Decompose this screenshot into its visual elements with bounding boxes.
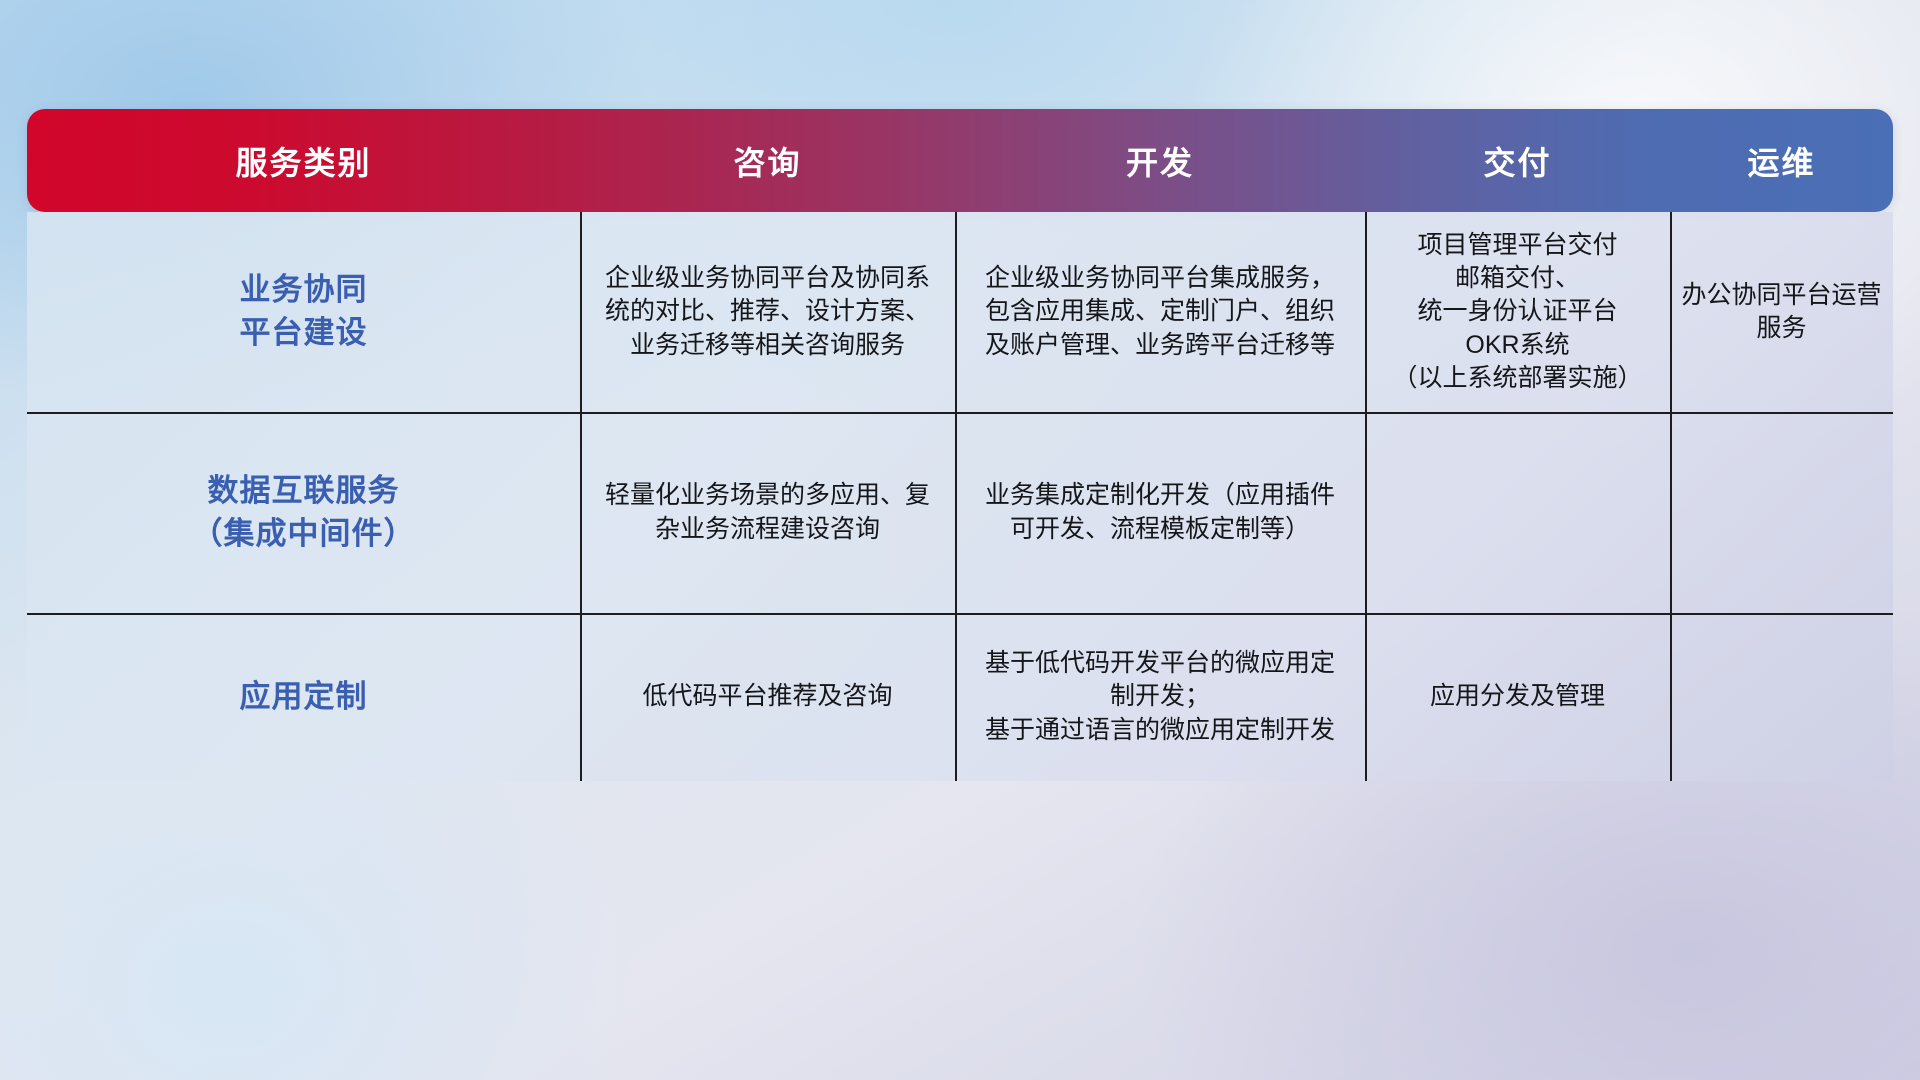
- cell-delivery-row1: 项目管理平台交付 邮箱交付、 统一身份认证平台 OKR系统 （以上系统部署实施）: [1365, 212, 1670, 412]
- header-cell-operations: 运维: [1670, 138, 1893, 184]
- header-cell-delivery: 交付: [1365, 138, 1670, 184]
- cell-consulting-row3: 低代码平台推荐及咨询: [580, 613, 955, 781]
- row-label-app-customization: 应用定制: [27, 613, 580, 781]
- table-row: 业务协同 平台建设 企业级业务协同平台及协同系 统的对比、推荐、设计方案、 业务…: [27, 212, 1893, 412]
- cell-delivery-row3: 应用分发及管理: [1365, 613, 1670, 781]
- cell-operations-row1: 办公协同平台运营服务: [1670, 212, 1893, 412]
- cell-operations-row3: [1670, 613, 1893, 781]
- table-header-row: 服务类别 咨询 开发 交付 运维: [27, 109, 1893, 212]
- header-cell-development: 开发: [955, 138, 1365, 184]
- row-label-business-collaboration: 业务协同 平台建设: [27, 212, 580, 412]
- cell-development-row3: 基于低代码开发平台的微应用定 制开发； 基于通过语言的微应用定制开发: [955, 613, 1365, 781]
- service-matrix-table: 服务类别 咨询 开发 交付 运维 业务协同 平台建设 企业级业务协同平台及协同系…: [27, 109, 1893, 781]
- cell-development-row1: 企业级业务协同平台集成服务， 包含应用集成、定制门户、组织 及账户管理、业务跨平…: [955, 212, 1365, 412]
- table-body: 业务协同 平台建设 企业级业务协同平台及协同系 统的对比、推荐、设计方案、 业务…: [27, 212, 1893, 781]
- cell-consulting-row2: 轻量化业务场景的多应用、复 杂业务流程建设咨询: [580, 412, 955, 613]
- row-label-data-interconnect: 数据互联服务 （集成中间件）: [27, 412, 580, 613]
- cell-operations-row2: [1670, 412, 1893, 613]
- header-cell-consulting: 咨询: [580, 138, 955, 184]
- header-cell-category: 服务类别: [27, 138, 580, 184]
- cell-delivery-row2: [1365, 412, 1670, 613]
- table-row: 应用定制 低代码平台推荐及咨询 基于低代码开发平台的微应用定 制开发； 基于通过…: [27, 613, 1893, 781]
- cell-development-row2: 业务集成定制化开发（应用插件 可开发、流程模板定制等）: [955, 412, 1365, 613]
- cell-consulting-row1: 企业级业务协同平台及协同系 统的对比、推荐、设计方案、 业务迁移等相关咨询服务: [580, 212, 955, 412]
- table-row: 数据互联服务 （集成中间件） 轻量化业务场景的多应用、复 杂业务流程建设咨询 业…: [27, 412, 1893, 613]
- slide-canvas: 服务类别 咨询 开发 交付 运维 业务协同 平台建设 企业级业务协同平台及协同系…: [0, 0, 1920, 1080]
